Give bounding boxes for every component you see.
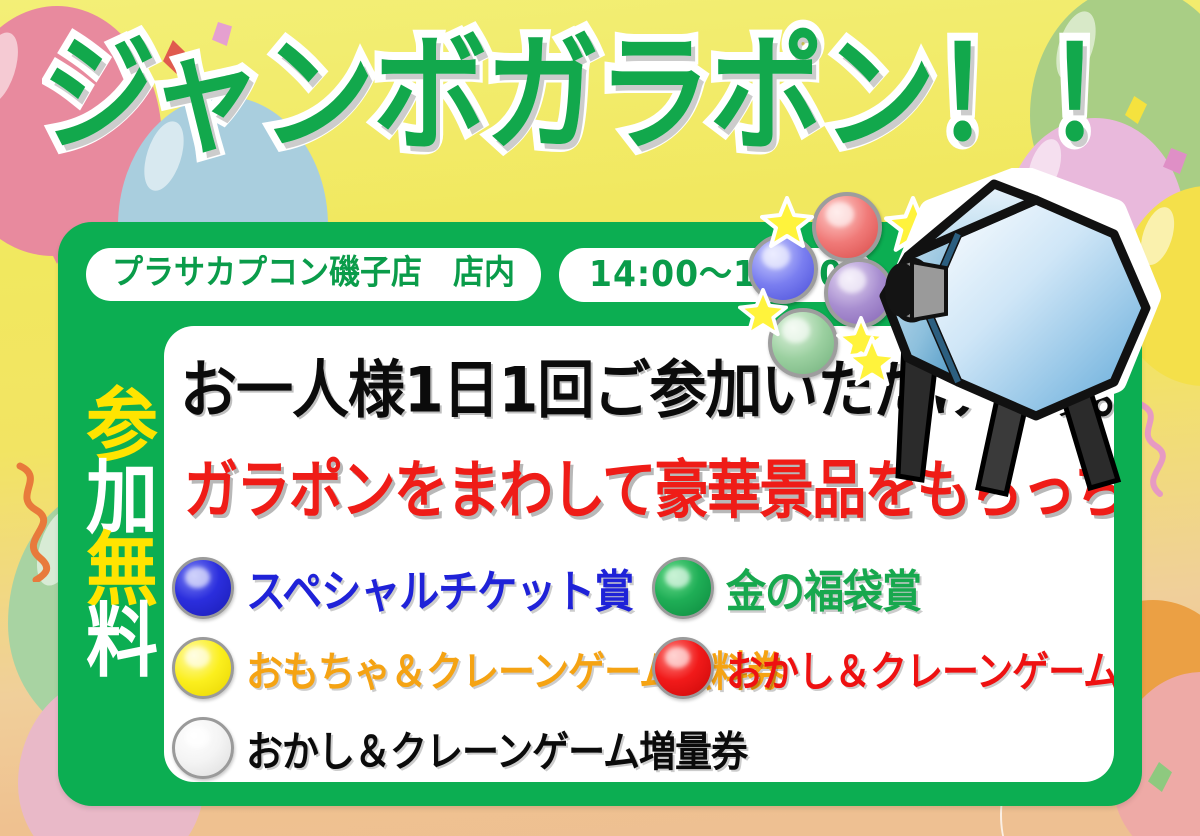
prize-row: おかし＆クレーンゲーム増量券 (172, 708, 1106, 782)
vertical-char-4: 料 (86, 603, 158, 681)
poster-title-wrap: ジャンボガラポン！！ (0, 38, 1200, 152)
prize-list: スペシャルチケット賞 金の福袋賞 おもちゃ＆クレーンゲーム無料券 (172, 548, 1106, 782)
prize-row: スペシャルチケット賞 金の福袋賞 (172, 548, 1106, 628)
lottery-ball-red-icon (652, 637, 714, 699)
prize-label: スペシャルチケット賞 (246, 556, 633, 621)
ball-dispenser-spout (885, 260, 946, 320)
venue-badge: プラサカプコン磯子店 店内 (86, 248, 541, 301)
free-entry-vertical-banner: 参 加 無 料 (76, 392, 168, 677)
lottery-ball-yellow-icon (172, 637, 234, 699)
prize-item-toy-crane-free: おもちゃ＆クレーンゲーム無料券 (172, 637, 652, 699)
ball-highlight (185, 727, 210, 748)
prize-label: 金の福袋賞 (726, 556, 921, 621)
ball-highlight (185, 567, 210, 588)
ball-highlight (185, 647, 210, 668)
prize-label: おかし＆クレーンゲーム無料券 (726, 638, 1114, 698)
promotional-poster: ジャンボガラポン！！ プラサカプコン磯子店 店内 14:00〜15:00 参 加… (0, 0, 1200, 836)
ball-highlight (665, 647, 690, 668)
ball-highlight (665, 567, 690, 588)
prize-row: おもちゃ＆クレーンゲーム無料券 おかし＆クレーンゲーム無料券 (172, 628, 1106, 708)
sparkle-icon (738, 288, 788, 338)
prize-item-special-ticket: スペシャルチケット賞 (172, 557, 652, 619)
garapon-lottery-machine (846, 168, 1186, 518)
prize-item-snack-crane-bonus: おかし＆クレーンゲーム増量券 (172, 717, 652, 779)
lottery-ball-blue-icon (172, 557, 234, 619)
sparkle-icon (760, 196, 814, 250)
prize-label: おかし＆クレーンゲーム増量券 (246, 718, 747, 778)
page-title: ジャンボガラポン！！ (42, 30, 1158, 160)
lottery-ball-white-icon (172, 717, 234, 779)
lottery-ball-green-icon (652, 557, 714, 619)
prize-item-gold-lucky-bag: 金の福袋賞 (652, 557, 1102, 619)
